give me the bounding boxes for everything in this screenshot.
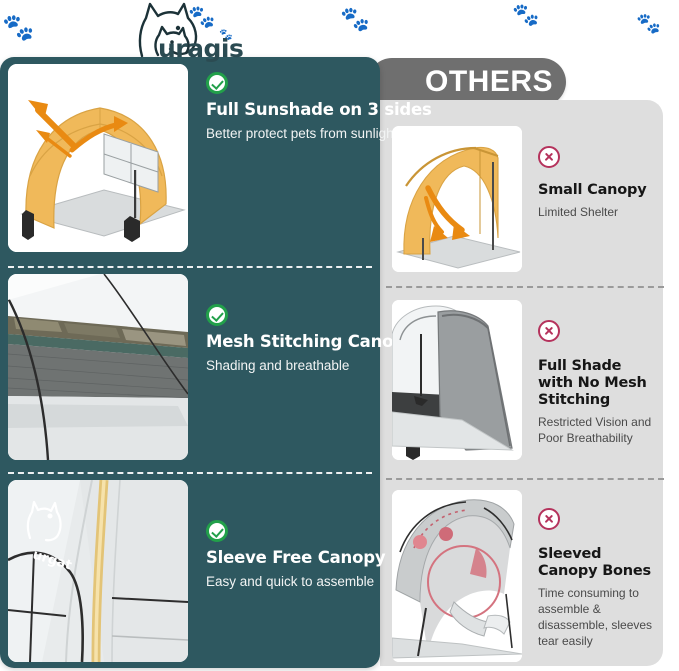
- paw-print-icon: 🐾: [340, 8, 370, 32]
- other-feature-image: [392, 126, 522, 272]
- cross-circle-icon: [538, 508, 560, 530]
- other-feature-text: Sleeved Canopy Bones Time consuming to a…: [522, 490, 669, 650]
- brand-feature-title: Full Sunshade on 3 sides: [206, 100, 657, 119]
- other-feature-image: [392, 490, 522, 662]
- paw-print-icon: 🐾: [512, 4, 539, 26]
- row-divider: [8, 472, 372, 474]
- other-feature-image: [392, 300, 522, 460]
- row-divider: [8, 266, 372, 268]
- full-shade-no-mesh-illustration: [392, 300, 522, 460]
- check-circle-icon: [206, 72, 228, 94]
- other-feature-title: Full Shade with No Mesh Stitching: [538, 358, 659, 409]
- other-feature-subtitle: Restricted Vision and Poor Breathability: [538, 415, 659, 447]
- other-feature-title: Sleeved Canopy Bones: [538, 546, 659, 580]
- other-feature-text: Full Shade with No Mesh Stitching Restri…: [522, 300, 669, 447]
- other-feature-row: Small Canopy Limited Shelter: [0, 126, 679, 276]
- other-feature-subtitle: Time consuming to assemble & disassemble…: [538, 586, 658, 650]
- other-feature-row: Sleeved Canopy Bones Time consuming to a…: [0, 490, 679, 666]
- cross-circle-icon: [538, 146, 560, 168]
- cross-circle-icon: [538, 320, 560, 342]
- other-feature-text: Small Canopy Limited Shelter: [522, 126, 669, 221]
- other-feature-title: Small Canopy: [538, 182, 659, 199]
- row-divider: [386, 478, 664, 480]
- paw-print-icon: 🐾: [219, 28, 233, 41]
- small-partial-canopy-illustration: [392, 126, 522, 272]
- paw-print-icon: 🐾: [2, 14, 34, 40]
- other-feature-row: Full Shade with No Mesh Stitching Restri…: [0, 300, 679, 464]
- brand-logo: uragis 🐾: [112, 0, 272, 68]
- paw-print-icon: 🐾: [636, 14, 661, 34]
- other-feature-subtitle: Limited Shelter: [538, 205, 659, 221]
- sleeved-canopy-bones-illustration: [392, 490, 522, 662]
- row-divider: [386, 286, 664, 288]
